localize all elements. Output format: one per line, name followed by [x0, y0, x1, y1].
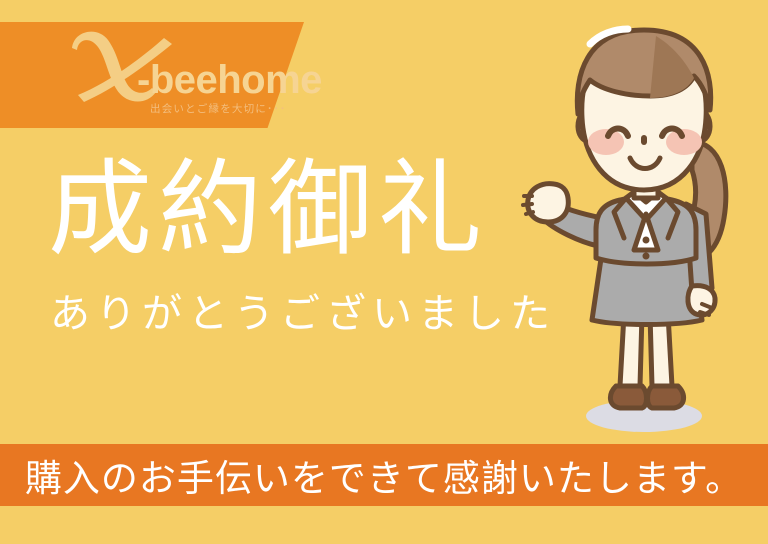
bottom-strip-text: 購入のお手伝いをできて感謝いたします。 — [0, 444, 768, 506]
subheadline: ありがとうございました — [50, 294, 556, 334]
logo-tagline: 出会いとご縁を大切に･･･ — [150, 101, 286, 116]
headline: 成約御礼 — [48, 158, 488, 262]
businesswoman-illustration — [516, 14, 768, 434]
logo-wordmark: -beehome — [137, 60, 322, 100]
promo-banner: -beehome 出会いとご縁を大切に･･･ 成約御礼 ありがとうございました — [0, 0, 768, 544]
